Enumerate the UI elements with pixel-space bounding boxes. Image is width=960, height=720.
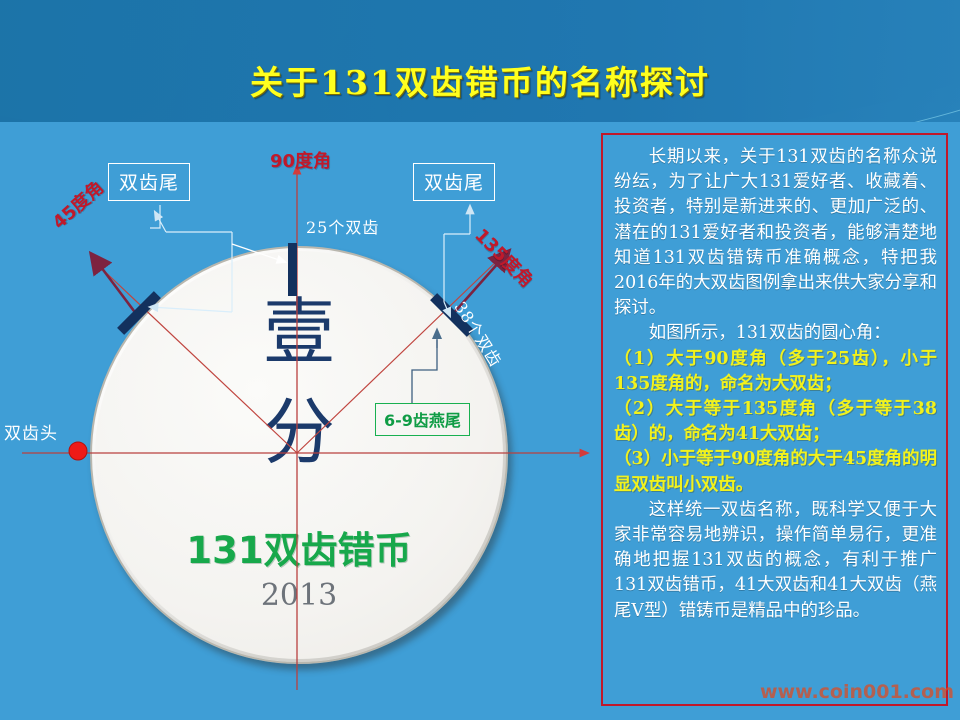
label-tail-right: 双齿尾 xyxy=(413,163,495,201)
tick-top-90 xyxy=(288,243,297,296)
paragraph-2-lead: 如图所示，131双齿的圆心角： xyxy=(614,321,937,346)
site-watermark: www.coin001.com xyxy=(760,681,954,703)
label-count-25: 25个双齿 xyxy=(306,214,379,238)
rule-item-3: （3）小于等于90度角的大于45度角的明显双齿叫小双齿。 xyxy=(614,447,937,497)
paragraph-1: 长期以来，关于131双齿的名称众说纷纭，为了让广大131爱好者、收藏着、投资者，… xyxy=(614,145,937,321)
leader-lines-left xyxy=(150,205,285,312)
explanation-text: 长期以来，关于131双齿的名称众说纷纭，为了让广大131爱好者、收藏着、投资者，… xyxy=(614,145,937,624)
rule-item-1: （1）大于90度角（多于25齿），小于135度角的，命名为大双齿； xyxy=(614,347,937,397)
leader-left-to-top-tick xyxy=(232,244,285,262)
leader-swallowtail-path xyxy=(412,340,437,404)
rule-item-2: （2）大于等于135度角（多于等于38齿）的，命名为41大双齿； xyxy=(614,397,937,447)
leader-left-stub xyxy=(150,205,160,228)
label-tail-left: 双齿尾 xyxy=(108,163,190,201)
label-angle-90: 90度角 xyxy=(270,147,331,173)
leader-lines-swallowtail xyxy=(412,330,437,404)
label-swallow-tail: 6-9齿燕尾 xyxy=(375,403,470,436)
paragraph-3: 这样统一双齿名称，既科学又便于大家非常容易地辨识，操作简单易行，更准确地把握13… xyxy=(614,498,937,624)
arrow-45-degree xyxy=(92,255,137,315)
tooth-tick-marks xyxy=(117,243,474,337)
label-tooth-head: 双齿头 xyxy=(4,419,58,444)
leader-left-to-tick xyxy=(150,307,232,312)
tooth-head-dot xyxy=(69,442,87,460)
explanation-panel: 长期以来，关于131双齿的名称众说纷纭，为了让广大131爱好者、收藏着、投资者，… xyxy=(601,133,948,706)
slide-canvas: 关于131双齿错币的名称探讨 壹 分 131双齿错币 2013 xyxy=(0,0,960,720)
radius-45-degree xyxy=(100,267,297,453)
